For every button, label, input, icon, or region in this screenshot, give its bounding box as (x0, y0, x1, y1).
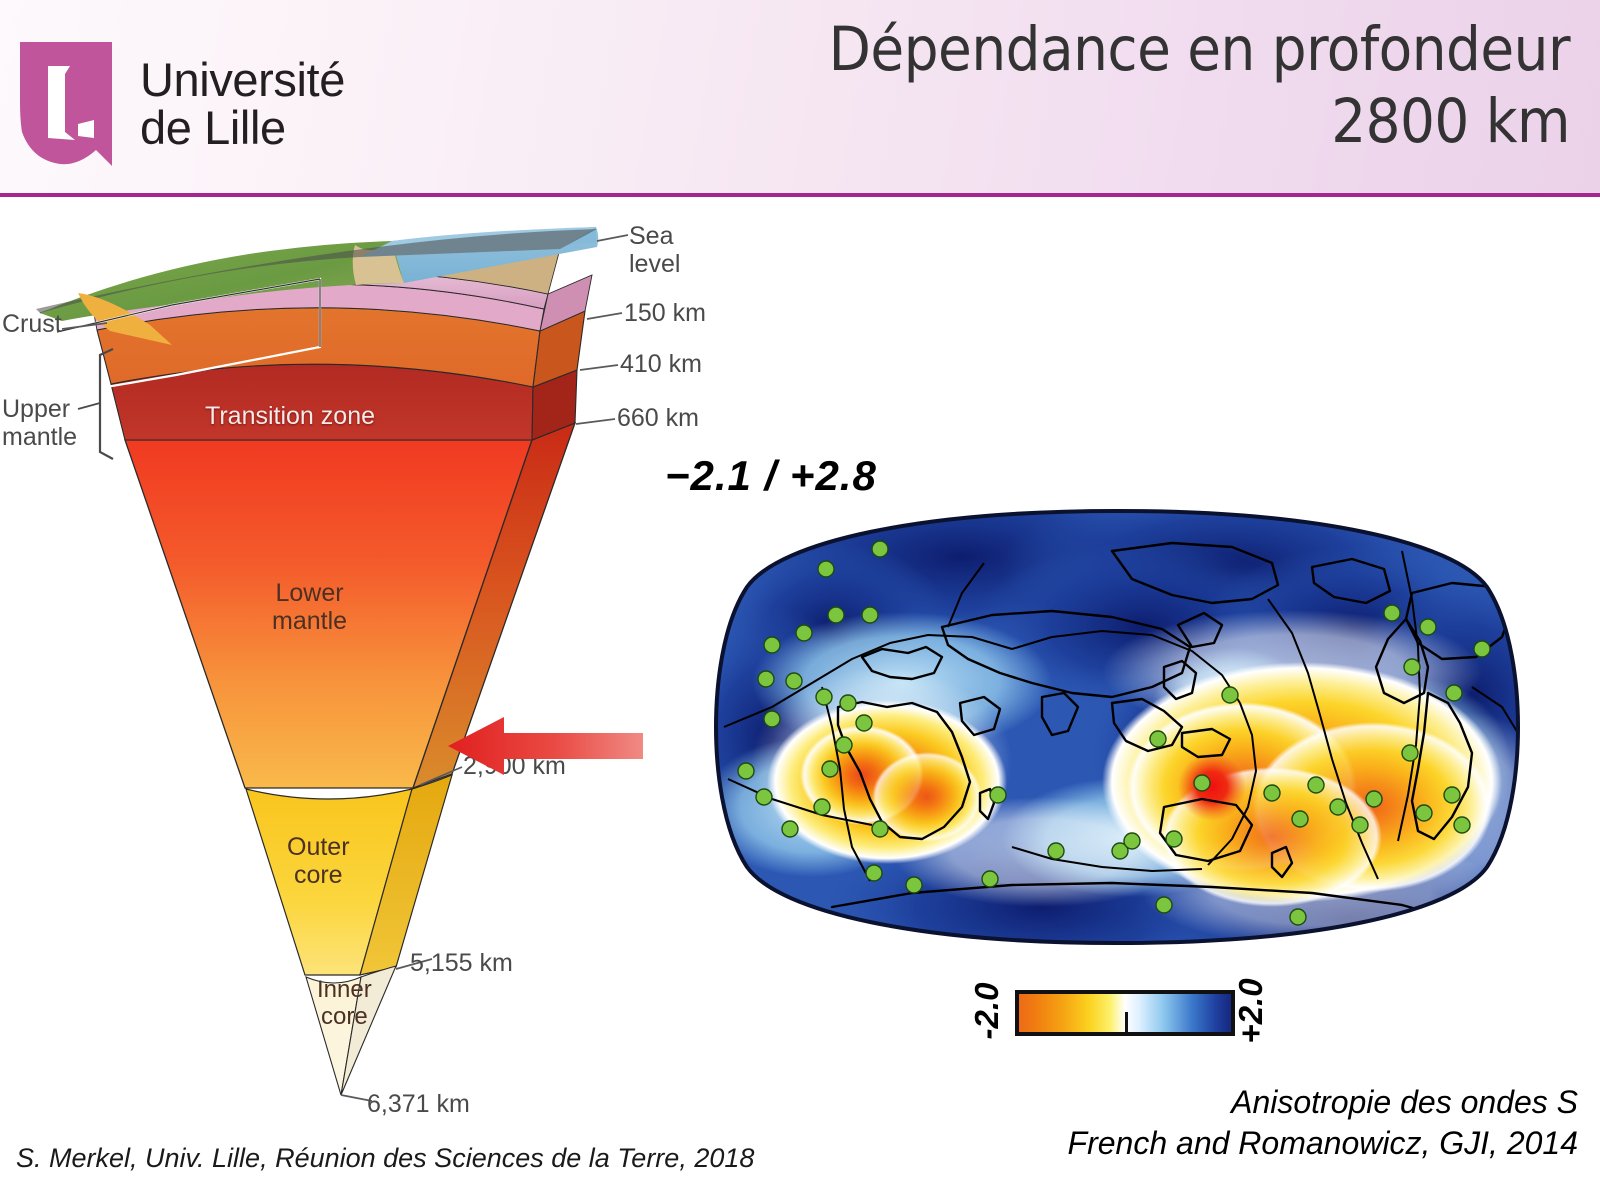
label-transition-zone: Transition zone (205, 402, 375, 431)
logo-line-2: de Lille (140, 104, 345, 152)
depth-pointer-arrow (448, 715, 643, 777)
slide-title: Dépendance en profondeur 2800 km (630, 14, 1570, 158)
label-sea-level: Sea level (629, 222, 680, 278)
source-caption-right: Anisotropie des ondes S French and Roman… (1068, 1082, 1578, 1164)
label-inner-core: Inner core (317, 977, 372, 1031)
title-line-1: Dépendance en profondeur (630, 14, 1570, 86)
colorbar-gradient (1015, 990, 1235, 1036)
colorbar-max-label: +2.0 (1232, 976, 1270, 1046)
colorbar: -2.0 +2.0 (970, 982, 1270, 1052)
logo-line-1: Université (140, 56, 345, 104)
label-lower-mantle: Lower mantle (272, 579, 347, 635)
label-depth-5155: 5,155 km (410, 949, 513, 977)
tomography-figure: −2.1 / +2.8 (640, 427, 1570, 1167)
label-crust: Crust (2, 310, 62, 338)
source-caption-left: S. Merkel, Univ. Lille, Réunion des Scie… (16, 1143, 754, 1174)
colorbar-min-label: -2.0 (968, 976, 1006, 1046)
university-logo: Université de Lille (18, 40, 345, 168)
title-line-2: 2800 km (630, 86, 1570, 158)
colorbar-center-tick (1125, 1012, 1128, 1032)
label-depth-410: 410 km (620, 350, 702, 378)
label-depth-6371: 6,371 km (367, 1090, 470, 1118)
lille-shield-icon (18, 40, 114, 168)
slide-body: Sea level 150 km 410 km 660 km Crust Upp… (0, 197, 1600, 1200)
label-upper-mantle: Upper mantle (2, 395, 77, 451)
caption-right-line-2: French and Romanowicz, GJI, 2014 (1068, 1123, 1578, 1164)
label-outer-core: Outer core (287, 833, 350, 889)
label-depth-150: 150 km (624, 299, 706, 327)
global-tomography-map (712, 507, 1522, 947)
anomaly-range-annotation: −2.1 / +2.8 (665, 452, 877, 500)
caption-right-line-1: Anisotropie des ondes S (1068, 1082, 1578, 1123)
earth-cross-section-figure: Sea level 150 km 410 km 660 km Crust Upp… (0, 197, 680, 1127)
slide-header: Université de Lille Dépendance en profon… (0, 0, 1600, 197)
logo-wordmark: Université de Lille (140, 56, 345, 152)
